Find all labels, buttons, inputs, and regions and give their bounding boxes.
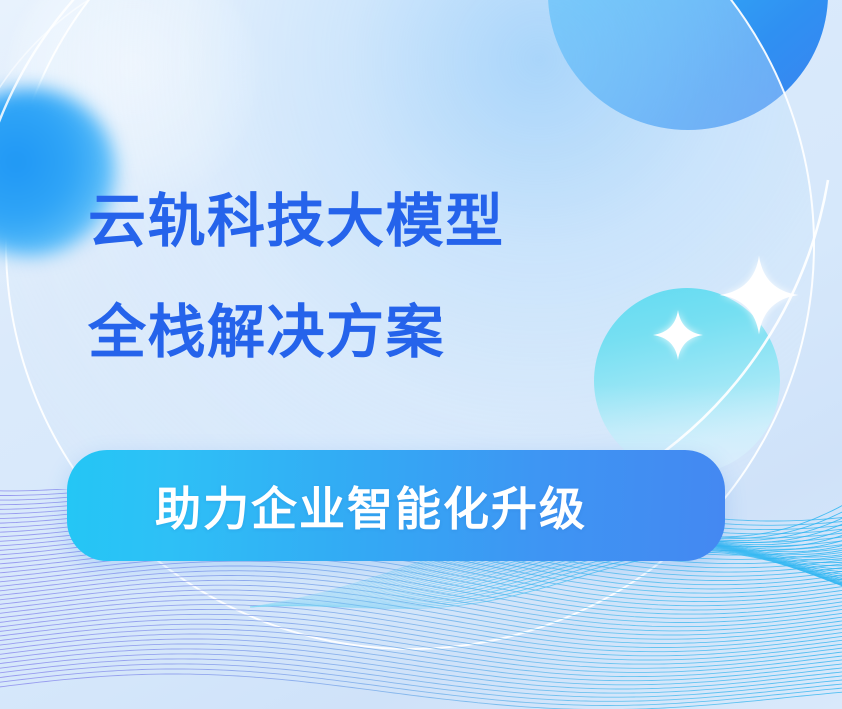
page-title-line1: 云轨科技大模型 xyxy=(88,191,505,254)
tagline-banner[interactable]: 助力企业智能化升级 xyxy=(67,450,725,561)
promo-poster: 云轨科技大模型 全栈解决方案 助力企业智能化升级 xyxy=(0,0,842,709)
poster-content: 云轨科技大模型 全栈解决方案 助力企业智能化升级 xyxy=(0,0,842,709)
page-title-line2: 全栈解决方案 xyxy=(88,302,445,365)
tagline-banner-label: 助力企业智能化升级 xyxy=(155,473,587,539)
